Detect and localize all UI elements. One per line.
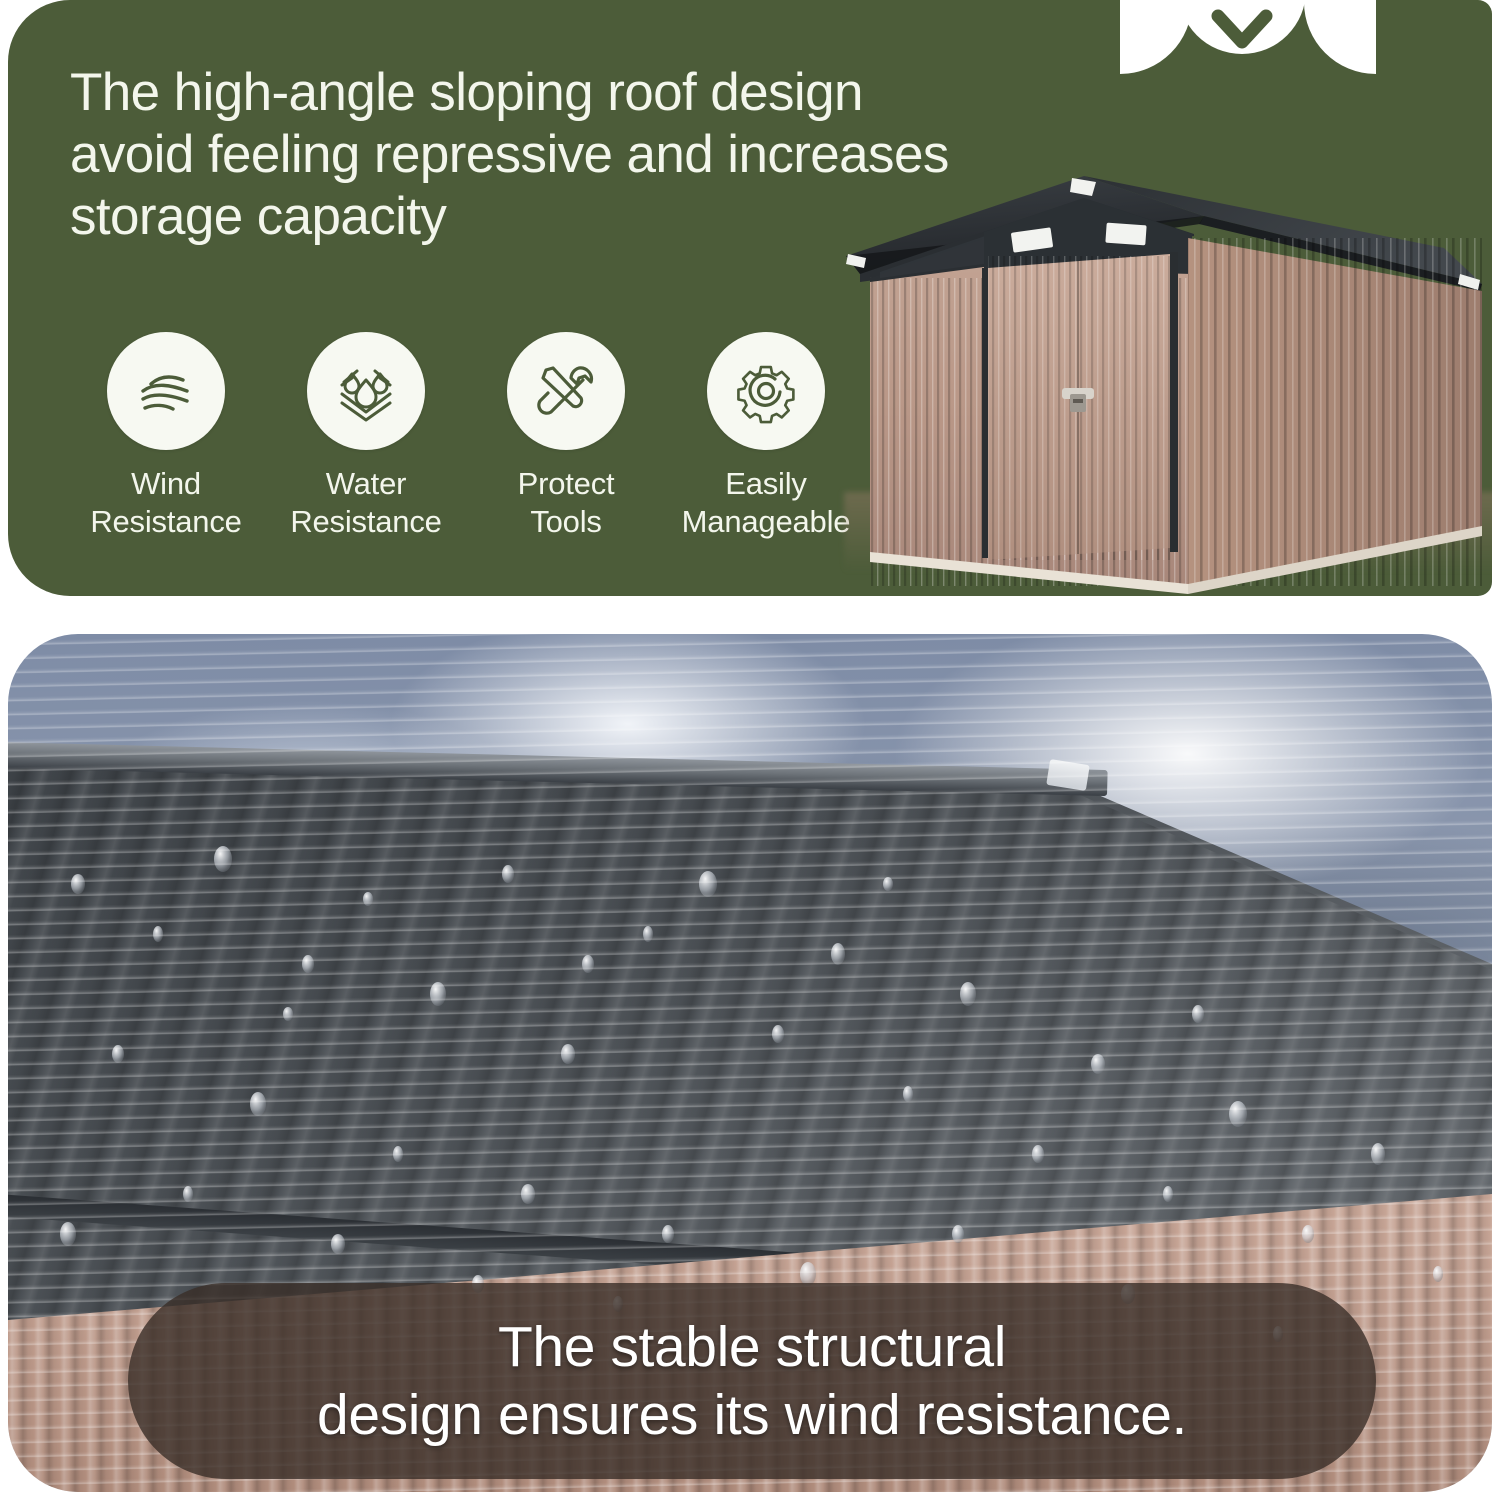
product-shed-image (844, 156, 1492, 596)
screwdriver-wrench-icon (507, 332, 625, 450)
feature-label: Water Resistance (290, 465, 441, 541)
caption-text: The stable structural design ensures its… (317, 1313, 1187, 1450)
feature-item-easily-manageable: Easily Manageable (666, 332, 866, 541)
feature-item-protect-tools: Protect Tools (466, 332, 666, 541)
chevron-down-icon[interactable] (1206, 2, 1278, 60)
feature-label: Protect Tools (518, 465, 615, 541)
caption-banner: The stable structural design ensures its… (128, 1283, 1376, 1479)
gear-icon (707, 332, 825, 450)
feature-highlight-panel: The high-angle sloping roof design avoid… (8, 0, 1492, 596)
wind-waves-icon (107, 332, 225, 450)
feature-item-wind-resistance: Wind Resistance (66, 332, 266, 541)
feature-item-water-resistance: Water Resistance (266, 332, 466, 541)
feature-label: Easily Manageable (682, 465, 851, 541)
water-droplet-layers-icon (307, 332, 425, 450)
shed-illustration (844, 156, 1492, 596)
feature-list: Wind Resistance Water Resistance (66, 332, 866, 541)
feature-label: Wind Resistance (90, 465, 241, 541)
